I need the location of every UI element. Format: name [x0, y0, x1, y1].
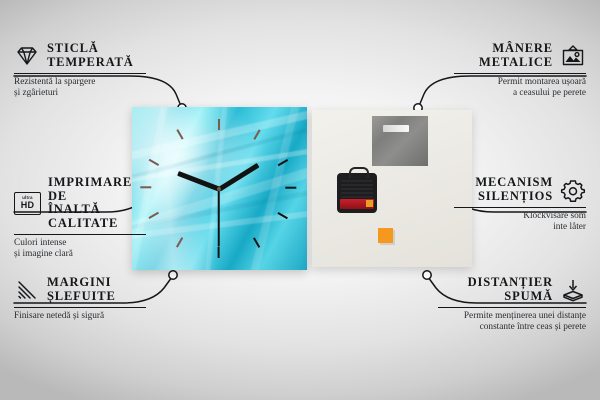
battery: [340, 199, 374, 209]
callout-subtitle: Culori intense și imagine clară: [14, 238, 146, 260]
callout-print-quality: ultra HD IMPRIMARE DE ÎNALTĂ CALITATE Cu…: [14, 176, 146, 260]
callout-metal-handles: MÂNERE METALICE Permit montarea ușoară a…: [454, 42, 586, 99]
callout-title: MARGINI ȘLEFUITE: [47, 276, 116, 303]
callout-polished-edges: MARGINI ȘLEFUITE Finisare netedă și sigu…: [14, 276, 146, 322]
callout-subtitle: Finisare netedă și sigură: [14, 311, 146, 322]
callout-rule: [454, 73, 586, 74]
infographic-canvas: STICLĂ TEMPERATĂ Rezistentă la spargere …: [0, 0, 600, 400]
callout-subtitle: Permite menținerea unei distanțe constan…: [438, 311, 586, 333]
leader-endpoint: [169, 271, 177, 279]
callout-foam-spacer: DISTANȚIER SPUMĂ Permite menținerea unei…: [438, 276, 586, 333]
callout-title: STICLĂ TEMPERATĂ: [47, 42, 134, 69]
ultra-hd-icon: ultra HD: [14, 192, 41, 215]
callout-subtitle: Klockvisare som inte låter: [454, 211, 586, 233]
callout-title: IMPRIMARE DE ÎNALTĂ CALITATE: [48, 176, 146, 230]
callout-title: DISTANȚIER SPUMĂ: [468, 276, 553, 303]
hd-main-label: HD: [21, 201, 34, 210]
product-clock-face: [132, 107, 307, 270]
diagonal-lines-icon: [14, 278, 40, 302]
press-down-pad-icon: [560, 278, 586, 302]
clock-mechanism: [337, 173, 377, 213]
callout-rule: [14, 234, 146, 235]
callout-title: MÂNERE METALICE: [479, 42, 553, 69]
callout-silent-mechanism: MECANISM SILENȚIOS Klockvisare som inte …: [454, 176, 586, 233]
gear-icon: [560, 178, 586, 202]
callout-rule: [454, 207, 586, 208]
callout-rule: [14, 73, 146, 74]
callout-title: MECANISM SILENȚIOS: [475, 176, 553, 203]
metal-hanger-bracket: [372, 116, 428, 166]
product-back-panel: [312, 110, 472, 267]
diamond-icon: [14, 44, 40, 68]
picture-hanger-icon: [560, 44, 586, 68]
callout-subtitle: Permit montarea ușoară a ceasului pe per…: [454, 77, 586, 99]
callout-subtitle: Rezistentă la spargere și zgârieturi: [14, 77, 146, 99]
callout-rule: [14, 307, 146, 308]
clock-hand-second: [218, 189, 220, 247]
foam-spacer: [378, 228, 393, 243]
callout-tempered-glass: STICLĂ TEMPERATĂ Rezistentă la spargere …: [14, 42, 146, 99]
leader-endpoint: [423, 271, 431, 279]
callout-rule: [438, 307, 586, 308]
